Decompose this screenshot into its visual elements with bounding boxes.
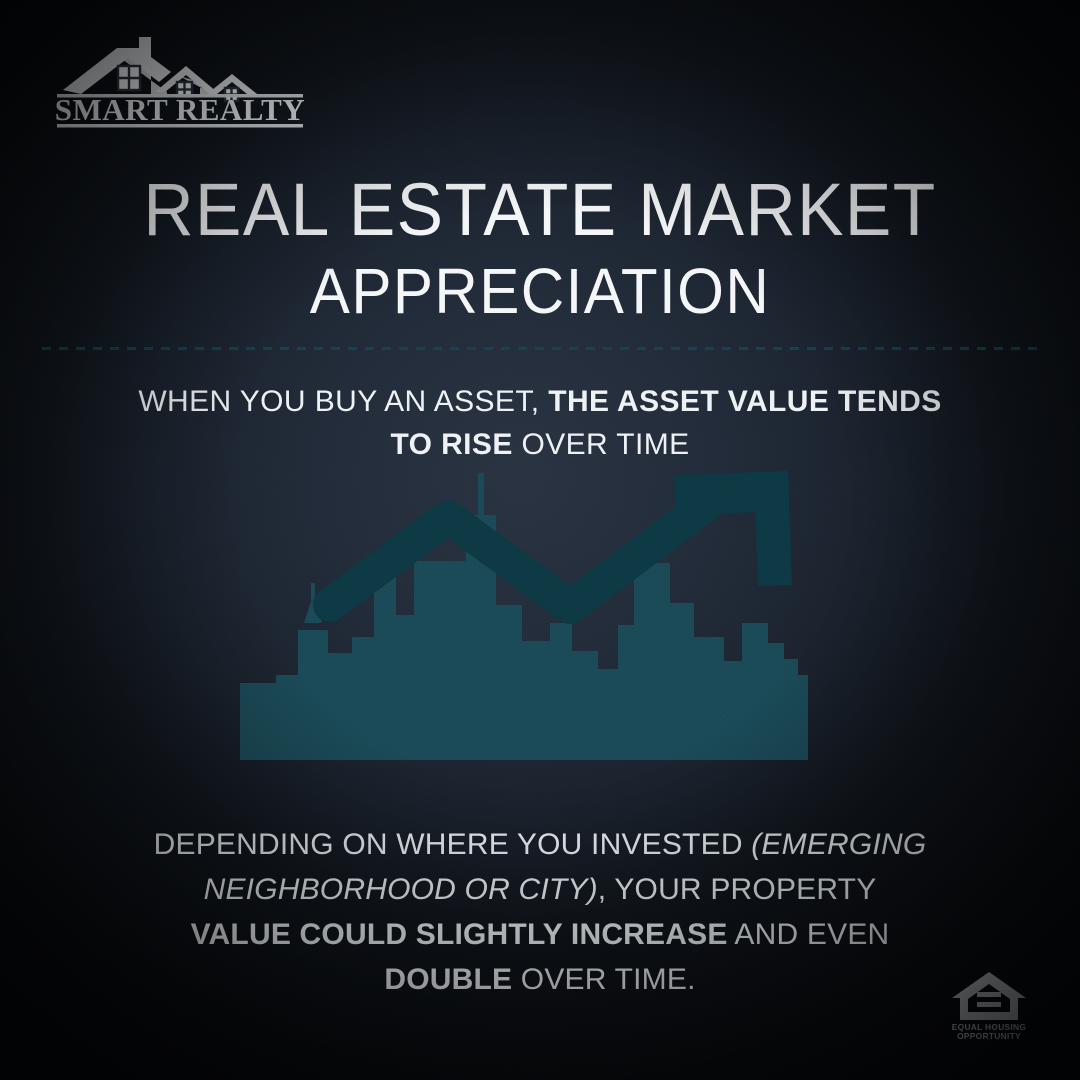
page-title: REAL ESTATE MARKET APPRECIATION	[0, 168, 1080, 328]
poster-canvas: SMART REALTY REAL ESTATE MARKET APPRECIA…	[0, 0, 1080, 1080]
body-seg-1: DEPENDING ON WHERE YOU INVESTED	[154, 828, 752, 861]
body-seg-7: OVER TIME.	[512, 963, 695, 996]
body-paragraph: DEPENDING ON WHERE YOU INVESTED (EMERGIN…	[150, 822, 930, 1002]
section-divider	[42, 347, 1038, 350]
brand-logo: SMART REALTY	[55, 32, 305, 132]
upward-trend-arrow	[330, 471, 792, 607]
three-house-rooflines-icon	[63, 37, 257, 94]
brand-name: SMART REALTY	[55, 92, 305, 127]
body-seg-4-bold: VALUE COULD SLIGHTLY INCREASE	[191, 918, 728, 951]
title-line-2: APPRECIATION	[32, 254, 1047, 328]
subtitle-plain-before: WHEN YOU BUY AN ASSET,	[138, 385, 548, 418]
eho-line-2: OPPORTUNITY	[957, 1031, 1021, 1041]
body-seg-3: , YOUR PROPERTY	[598, 873, 877, 906]
equal-housing-opportunity-icon	[952, 972, 1026, 1020]
skyline-artwork	[0, 455, 1080, 795]
subtitle-text: WHEN YOU BUY AN ASSET, THE ASSET VALUE T…	[130, 380, 950, 466]
body-seg-6-bold: DOUBLE	[384, 963, 512, 996]
title-line-1: REAL ESTATE MARKET	[32, 168, 1047, 252]
equal-housing-opportunity-logo: EQUAL HOUSING OPPORTUNITY	[948, 968, 1030, 1044]
body-seg-5: AND EVEN	[728, 918, 890, 951]
